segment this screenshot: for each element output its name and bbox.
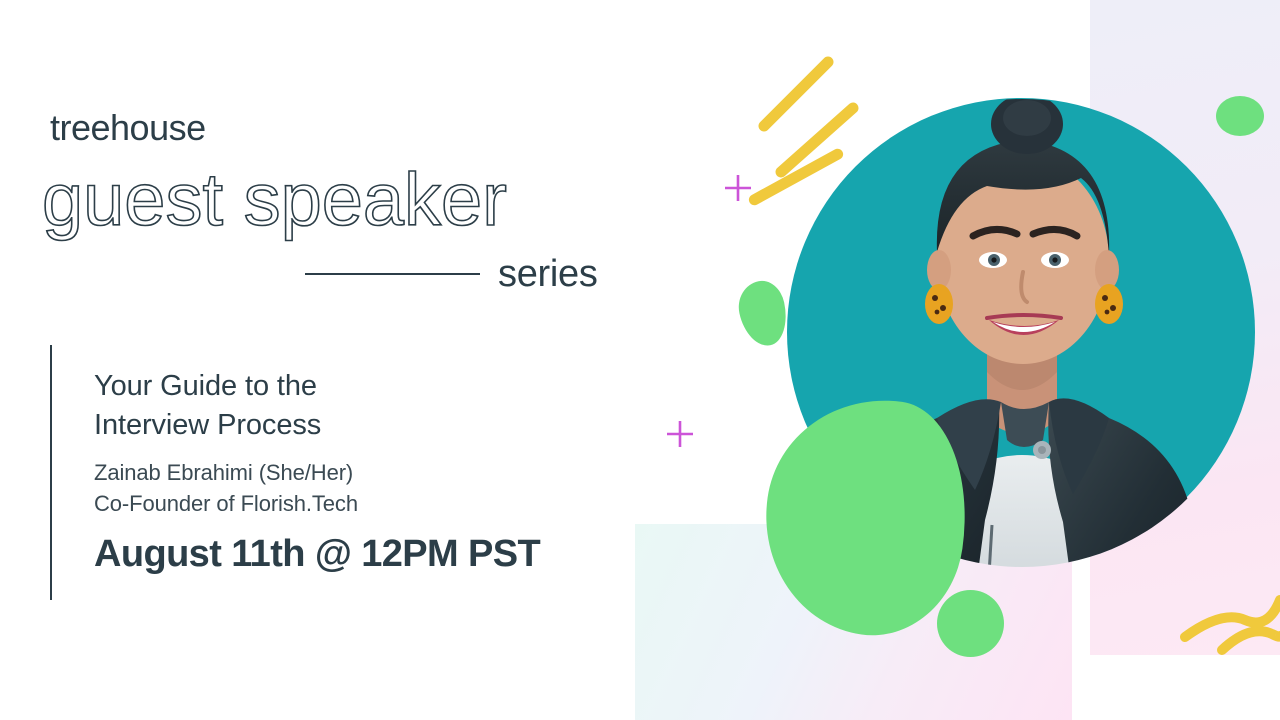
talk-title-line-2: Interview Process — [94, 409, 321, 441]
series-row: series — [305, 255, 625, 293]
brand-wordmark: treehouse — [50, 110, 206, 146]
talk-title-line-1: Your Guide to the — [94, 370, 317, 402]
green-dot-bottom — [937, 590, 1004, 657]
headline-guest-speaker: guest speaker — [42, 163, 507, 237]
series-divider-rule — [305, 273, 480, 275]
speaker-role: Co-Founder of Florish.Tech — [94, 489, 630, 520]
speaker-name: Zainab Ebrahimi (She/Her) — [94, 458, 630, 489]
session-info-block: Your Guide to the Interview Process Zain… — [50, 345, 630, 600]
session-datetime: August 11th @ 12PM PST — [94, 534, 630, 576]
promo-banner: treehouse guest speaker series Your Guid… — [0, 0, 1280, 720]
series-word: series — [498, 255, 598, 293]
talk-title: Your Guide to the Interview Process — [94, 367, 630, 444]
green-blob-small — [734, 277, 793, 350]
